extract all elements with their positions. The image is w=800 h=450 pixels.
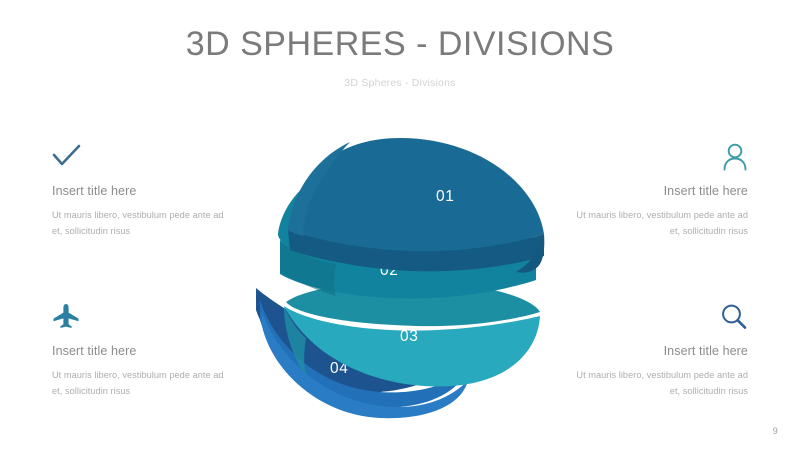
check-icon — [52, 143, 227, 175]
sliced-sphere-diagram: 04 03 02 — [240, 130, 560, 420]
feature-title: Insert title here — [52, 184, 227, 198]
feature-title: Insert title here — [573, 344, 748, 358]
feature-body: Ut mauris libero, vestibulum pede ante a… — [573, 368, 748, 400]
feature-block-bottom-left: Insert title here Ut mauris libero, vest… — [52, 303, 227, 400]
user-icon — [573, 143, 748, 175]
feature-body: Ut mauris libero, vestibulum pede ante a… — [52, 368, 227, 400]
sphere-slice-01[interactable]: 01 — [288, 138, 544, 273]
page-title: 3D SPHERES - DIVISIONS — [0, 26, 800, 63]
slice-01-label: 01 — [436, 188, 454, 205]
feature-block-top-right: Insert title here Ut mauris libero, vest… — [573, 143, 748, 240]
feature-block-top-left: Insert title here Ut mauris libero, vest… — [52, 143, 227, 240]
feature-block-bottom-right: Insert title here Ut mauris libero, vest… — [573, 303, 748, 400]
page-number: 9 — [773, 426, 778, 436]
slide-canvas: 3D SPHERES - DIVISIONS 3D Spheres - Divi… — [0, 0, 800, 450]
slice-03-label: 03 — [400, 328, 418, 345]
feature-body: Ut mauris libero, vestibulum pede ante a… — [52, 208, 227, 240]
airplane-icon — [52, 303, 227, 335]
feature-body: Ut mauris libero, vestibulum pede ante a… — [573, 208, 748, 240]
feature-title: Insert title here — [52, 344, 227, 358]
search-icon — [573, 303, 748, 335]
feature-title: Insert title here — [573, 184, 748, 198]
page-subtitle: 3D Spheres - Divisions — [0, 77, 800, 89]
